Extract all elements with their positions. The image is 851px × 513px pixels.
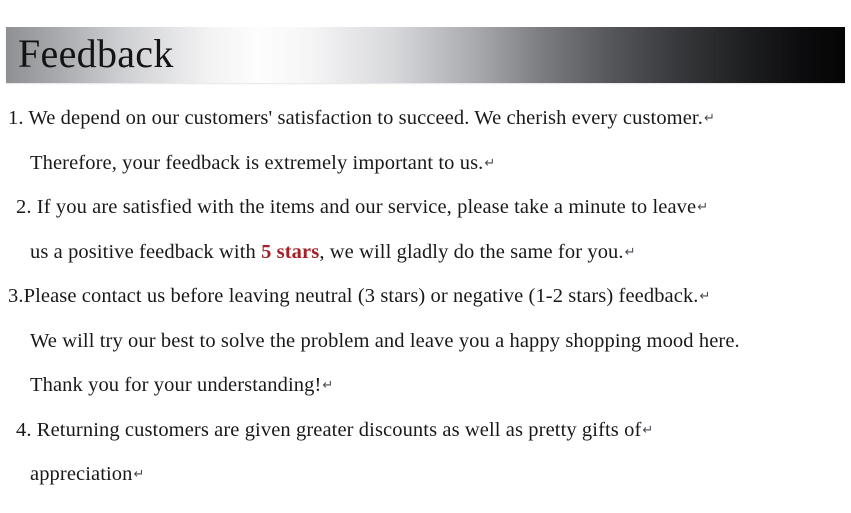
paragraph-return-icon: ↵ (483, 155, 495, 170)
feedback-banner: Feedback (6, 27, 845, 83)
paragraph-return-icon: ↵ (624, 244, 636, 259)
text-line-item2-line1: 2. If you are satisfied with the items a… (0, 185, 851, 230)
text-line-item3-line3: Thank you for your understanding!↵ (0, 363, 851, 408)
paragraph-return-icon: ↵ (696, 199, 708, 214)
text-line-item1-line2: Therefore, your feedback is extremely im… (0, 141, 851, 186)
feedback-policy-text: 1. We depend on our customers' satisfact… (0, 96, 851, 497)
text-segment-item4-line1-0: 4. Returning customers are given greater… (16, 419, 641, 441)
text-segment-item1-line2-0: Therefore, your feedback is extremely im… (30, 152, 483, 174)
paragraph-return-icon: ↵ (703, 110, 715, 125)
feedback-page: Feedback 1. We depend on our customers' … (0, 0, 851, 513)
text-segment-item2-line2-0: us a positive feedback with (30, 241, 261, 263)
text-segment-item1-line1-0: 1. We depend on our customers' satisfact… (8, 107, 703, 129)
text-segment-item2-line2-2: , we will gladly do the same for you. (319, 241, 623, 263)
text-segment-item4-line2-0: appreciation (30, 463, 133, 485)
highlighted-text-item2-line2: 5 stars (261, 241, 319, 263)
text-line-item3-line2: We will try our best to solve the proble… (0, 319, 851, 364)
page-title: Feedback (18, 33, 174, 75)
text-line-item4-line2: appreciation↵ (0, 452, 851, 497)
paragraph-return-icon: ↵ (133, 466, 145, 481)
paragraph-return-icon: ↵ (641, 422, 653, 437)
text-segment-item3-line2-0: We will try our best to solve the proble… (30, 330, 740, 352)
text-line-item4-line1: 4. Returning customers are given greater… (0, 408, 851, 453)
text-segment-item3-line3-0: Thank you for your understanding! (30, 374, 321, 396)
text-segment-item3-line1-0: 3.Please contact us before leaving neutr… (8, 285, 699, 307)
text-line-item2-line2: us a positive feedback with 5 stars, we … (0, 230, 851, 275)
text-line-item3-line1: 3.Please contact us before leaving neutr… (0, 274, 851, 319)
paragraph-return-icon: ↵ (699, 288, 711, 303)
text-segment-item2-line1-0: 2. If you are satisfied with the items a… (16, 196, 696, 218)
text-line-item1-line1: 1. We depend on our customers' satisfact… (0, 96, 851, 141)
paragraph-return-icon: ↵ (321, 377, 333, 392)
